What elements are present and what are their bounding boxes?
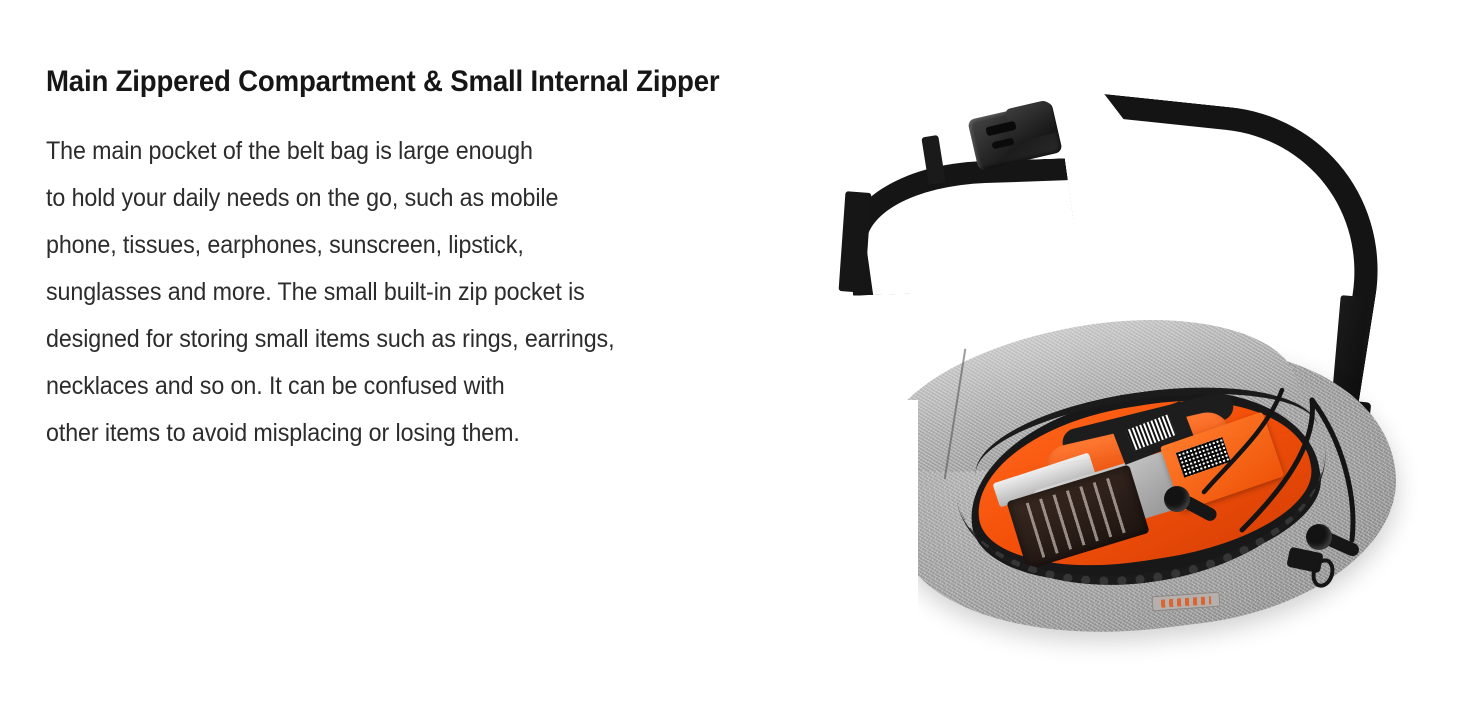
page-title: Main Zippered Compartment & Small Intern… bbox=[46, 62, 810, 102]
photo-background-mask bbox=[798, 400, 918, 620]
product-feature-banner: Main Zippered Compartment & Small Intern… bbox=[0, 0, 1464, 600]
description-line: phone, tissues, earphones, sunscreen, li… bbox=[46, 222, 818, 269]
description-paragraph: The main pocket of the belt bag is large… bbox=[46, 128, 876, 457]
text-column: Main Zippered Compartment & Small Intern… bbox=[46, 62, 876, 457]
product-photo bbox=[812, 100, 1452, 600]
description-line: other items to avoid misplacing or losin… bbox=[46, 410, 818, 457]
description-line: sunglasses and more. The small built-in … bbox=[46, 269, 818, 316]
earbud-right bbox=[1306, 524, 1332, 550]
description-line: The main pocket of the belt bag is large… bbox=[46, 128, 818, 175]
description-line: designed for storing small items such as… bbox=[46, 316, 818, 363]
earbud-left bbox=[1164, 486, 1190, 512]
belt-bag-body bbox=[836, 258, 1436, 708]
description-line: to hold your daily needs on the go, such… bbox=[46, 175, 818, 222]
description-line: necklaces and so on. It can be confused … bbox=[46, 363, 818, 410]
